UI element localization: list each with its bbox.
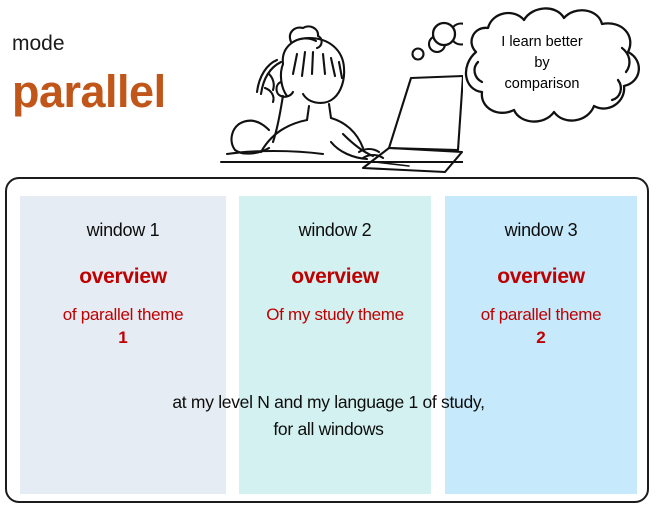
- window-2-overview-sub: Of my study theme: [239, 303, 431, 327]
- window-panel-1[interactable]: window 1 overview of parallel theme 1: [20, 196, 226, 494]
- window-3-overview-num: 2: [445, 327, 637, 349]
- window-2-title: window 2: [239, 218, 431, 242]
- window-3-overview: overview: [445, 264, 637, 290]
- mode-value: parallel: [12, 66, 166, 118]
- window-3-title: window 3: [445, 218, 637, 242]
- thought-bubble-line-1: I learn better: [462, 32, 622, 53]
- thought-bubble-line-3: comparison: [462, 74, 622, 95]
- window-panel-2[interactable]: window 2 overview Of my study theme: [239, 196, 431, 494]
- person-at-laptop-icon: [213, 2, 463, 174]
- mode-label: mode: [12, 32, 65, 56]
- window-1-overview-sub: of parallel theme: [20, 303, 226, 327]
- windows-container: window 1 overview of parallel theme 1 wi…: [5, 177, 649, 503]
- window-2-overview: overview: [239, 264, 431, 290]
- window-3-overview-sub: of parallel theme: [445, 303, 637, 327]
- thought-bubble-line-2: by: [462, 53, 622, 74]
- window-1-overview: overview: [20, 264, 226, 290]
- window-1-title: window 1: [20, 218, 226, 242]
- thought-bubble-text: I learn better by comparison: [462, 32, 622, 95]
- header: mode parallel: [0, 0, 656, 178]
- window-panel-3[interactable]: window 3 overview of parallel theme 2: [445, 196, 637, 494]
- window-1-overview-num: 1: [20, 327, 226, 349]
